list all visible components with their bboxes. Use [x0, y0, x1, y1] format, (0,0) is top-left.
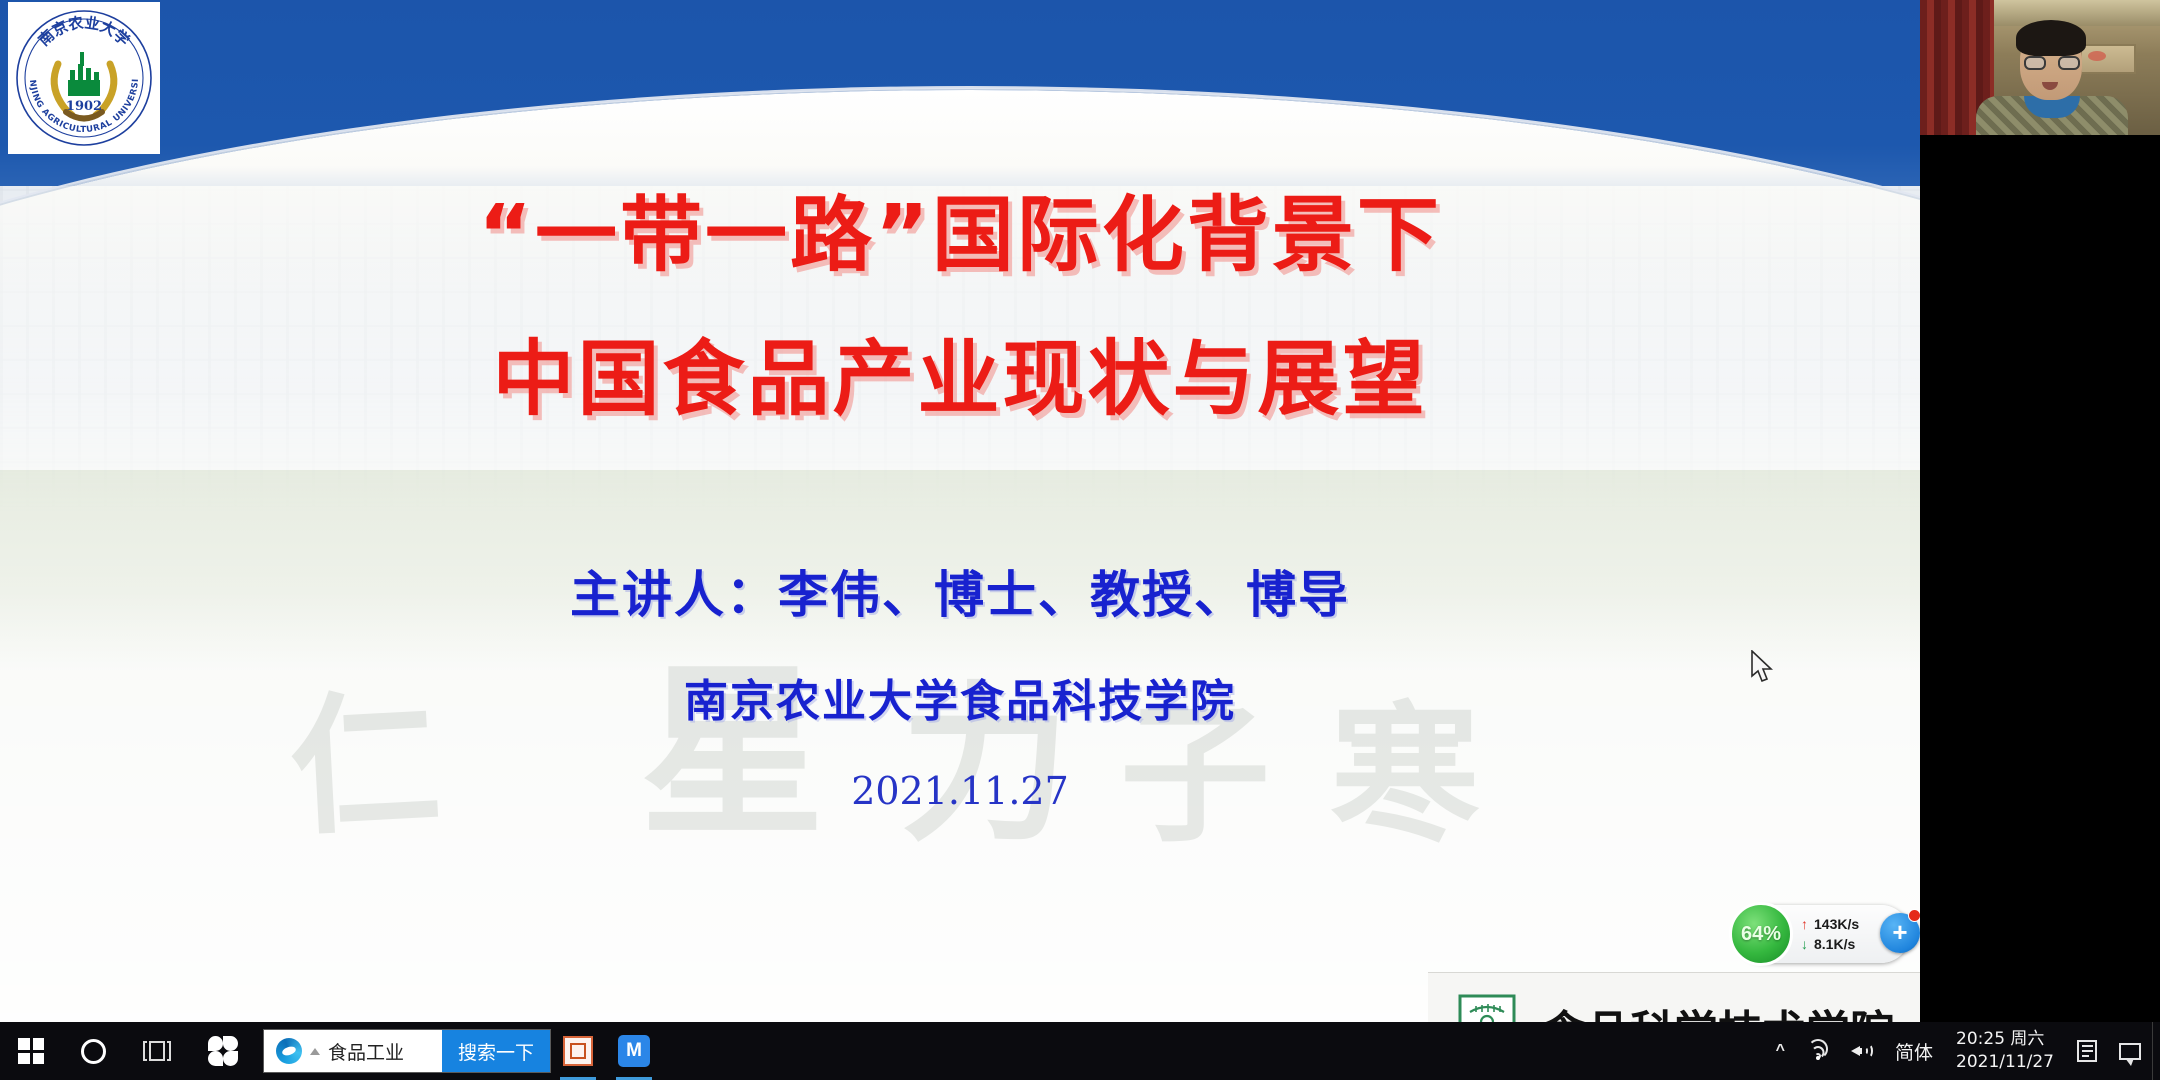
action-center-icon: [2077, 1040, 2097, 1062]
webcam-wall-painting: [2080, 44, 2136, 74]
svg-text:1902: 1902: [66, 99, 102, 114]
search-submit-button[interactable]: 搜索一下: [442, 1030, 550, 1072]
clock-time: 20:25 周六: [1956, 1028, 2044, 1051]
task-view-icon: [143, 1040, 171, 1062]
presenter-line: 主讲人：李伟、博士、教授、博导: [0, 555, 1920, 627]
ie-search-box[interactable]: 食品工业 搜索一下: [264, 1030, 550, 1072]
pinwheel-app-icon: [208, 1036, 238, 1066]
powerpoint-taskbar-button[interactable]: [550, 1022, 606, 1080]
webcam-person-hair: [2016, 20, 2086, 56]
ime-indicator-label: 简体: [1895, 1038, 1933, 1065]
blue-app-taskbar-button[interactable]: M: [606, 1022, 662, 1080]
internet-explorer-icon: [276, 1038, 302, 1064]
windows-logo-icon: [18, 1038, 44, 1064]
mouse-pointer-icon: [1750, 650, 1776, 684]
system-tray[interactable]: ^ 简体 20:25 周六 2021/11/27: [1765, 1022, 2160, 1080]
show-desktop-button[interactable]: [2152, 1022, 2160, 1080]
notification-button[interactable]: [2108, 1022, 2152, 1080]
widget-alert-dot: [1908, 909, 1920, 922]
glasses-icon: [2024, 56, 2080, 70]
clock-date: 2021/11/27: [1956, 1051, 2054, 1074]
volume-button[interactable]: [1840, 1022, 1884, 1080]
download-rate-value: 8.1K/s: [1814, 934, 1855, 954]
task-view-button[interactable]: [124, 1022, 190, 1080]
college-shield-logo-icon: [1454, 992, 1520, 1023]
college-banner-text: 食品科学技术学院: [1542, 996, 1894, 1023]
slide-subtitle-group: 主讲人：李伟、博士、教授、博导 南京农业大学食品科技学院 2021.11.27: [0, 555, 1920, 813]
upload-arrow-icon: ↑: [1801, 914, 1808, 934]
affiliation-line: 南京农业大学食品科技学院: [0, 665, 1920, 729]
volume-icon: [1851, 1042, 1873, 1060]
slide-date: 2021.11.27: [0, 769, 1920, 813]
network-rates: ↑ 143K/s ↓ 8.1K/s: [1801, 914, 1859, 955]
presenter-webcam-feed[interactable]: [1920, 0, 2160, 135]
show-hidden-icons-button[interactable]: ^: [1765, 1022, 1796, 1080]
powerpoint-icon: [563, 1036, 593, 1066]
notification-bubble-icon: [2119, 1043, 2141, 1060]
windows-taskbar[interactable]: 食品工业 搜索一下 M ^ 简体: [0, 1022, 2160, 1080]
blue-app-icon: M: [618, 1035, 650, 1067]
search-input[interactable]: 食品工业: [328, 1038, 404, 1065]
wifi-icon: [1807, 1042, 1829, 1060]
college-banner-popup[interactable]: 食品科学技术学院: [1428, 972, 1920, 1022]
slide-title-line-2: 中国食品产业现状与展望: [0, 339, 1920, 421]
nanjing-agricultural-university-seal-icon: 南京农业大学 NANJING AGRICULTURAL UNIVERSITY 1…: [14, 8, 154, 148]
cortana-circle-icon: [81, 1039, 106, 1064]
university-logo-plate: 南京农业大学 NANJING AGRICULTURAL UNIVERSITY 1…: [8, 2, 160, 154]
action-center-button[interactable]: [2066, 1022, 2108, 1080]
chevron-down-icon[interactable]: [310, 1048, 320, 1055]
search-input-area[interactable]: 食品工业: [264, 1030, 442, 1072]
network-speed-widget[interactable]: 64% ↑ 143K/s ↓ 8.1K/s +: [1735, 905, 1910, 963]
download-arrow-icon: ↓: [1801, 934, 1808, 954]
pinwheel-app-button[interactable]: [190, 1022, 256, 1080]
slide-title-line-1: “一带一路”国际化背景下: [0, 195, 1920, 277]
start-button[interactable]: [0, 1022, 62, 1080]
cpu-percent-badge: 64%: [1729, 902, 1793, 966]
taskbar-clock[interactable]: 20:25 周六 2021/11/27: [1944, 1028, 2066, 1074]
wifi-button[interactable]: [1796, 1022, 1840, 1080]
chevron-up-icon: ^: [1776, 1042, 1785, 1060]
upload-rate-row: ↑ 143K/s: [1801, 914, 1859, 934]
slide-title-group: “一带一路”国际化背景下 中国食品产业现状与展望: [0, 195, 1920, 421]
presentation-slide[interactable]: 仁 星 力 子 寒 南京农业大学: [0, 0, 1920, 1022]
screen: 仁 星 力 子 寒 南京农业大学: [0, 0, 2160, 1080]
upload-rate-value: 143K/s: [1814, 914, 1859, 934]
ime-button[interactable]: 简体: [1884, 1022, 1944, 1080]
download-rate-row: ↓ 8.1K/s: [1801, 934, 1859, 954]
cortana-search-button[interactable]: [62, 1022, 124, 1080]
